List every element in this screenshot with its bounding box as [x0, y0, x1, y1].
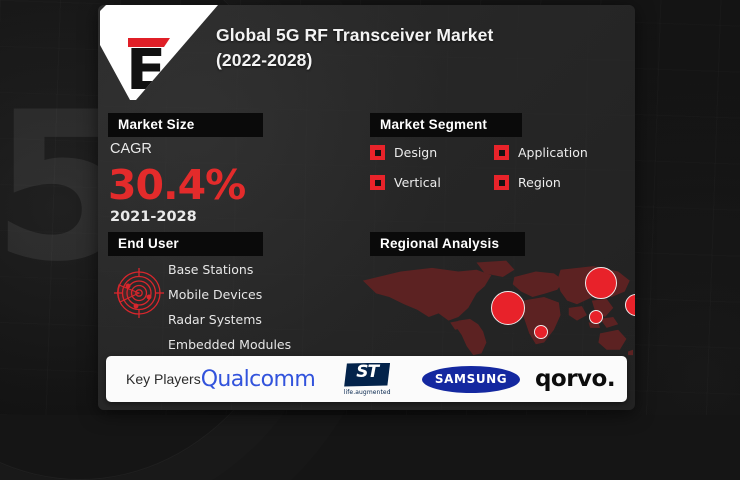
list-item: Mobile Devices	[168, 287, 298, 302]
qorvo-wordmark: qorvo.	[535, 366, 615, 392]
list-item: Embedded Modules	[168, 337, 298, 352]
section-heading-end-user: End User	[108, 232, 263, 256]
segment-item-vertical: Vertical	[370, 175, 494, 190]
map-bubble-europe	[585, 267, 617, 299]
qualcomm-wordmark: Qualcomm	[201, 367, 315, 392]
section-heading-market-segment: Market Segment	[370, 113, 522, 137]
logo-st: life.augmented	[315, 356, 419, 402]
map-bubble-south-america	[534, 325, 548, 339]
segment-item-design: Design	[370, 145, 494, 160]
cagr-period: 2021-2028	[110, 209, 197, 225]
list-item: Base Stations	[168, 262, 298, 277]
square-bullet-icon	[494, 175, 509, 190]
list-item: Radar Systems	[168, 312, 298, 327]
segment-label: Design	[394, 145, 437, 160]
key-players-label: Key Players	[106, 371, 201, 387]
square-bullet-icon	[370, 175, 385, 190]
segment-label: Application	[518, 145, 588, 160]
cagr-label: CAGR	[110, 141, 152, 157]
logo-qorvo: qorvo.	[523, 356, 627, 402]
key-players-bar: Key Players Qualcomm life.augmented SAMS…	[106, 356, 627, 402]
segment-label: Vertical	[394, 175, 441, 190]
st-tagline: life.augmented	[344, 390, 391, 396]
square-bullet-icon	[370, 145, 385, 160]
infographic-card: E Global 5G RF Transceiver Market (2022-…	[98, 5, 635, 410]
map-bubble-north-america	[491, 291, 525, 325]
cagr-value: 30.4%	[108, 165, 245, 206]
samsung-wordmark: SAMSUNG	[422, 366, 520, 393]
segment-label: Region	[518, 175, 561, 190]
end-user-list: Base Stations Mobile Devices Radar Syste…	[168, 262, 298, 362]
segment-item-region: Region	[494, 175, 620, 190]
radar-icon	[112, 266, 166, 320]
section-heading-regional-analysis: Regional Analysis	[370, 232, 525, 256]
map-bubble-africa	[589, 310, 603, 324]
square-bullet-icon	[494, 145, 509, 160]
market-segment-grid: Design Application Vertical Region	[370, 145, 620, 190]
section-heading-market-size: Market Size	[108, 113, 263, 137]
logo-samsung: SAMSUNG	[419, 356, 523, 402]
logo-qualcomm: Qualcomm	[201, 356, 315, 402]
page-title: Global 5G RF Transceiver Market (2022-20…	[216, 23, 546, 73]
segment-item-application: Application	[494, 145, 620, 160]
st-mark-icon	[344, 363, 390, 387]
world-map	[353, 257, 633, 357]
